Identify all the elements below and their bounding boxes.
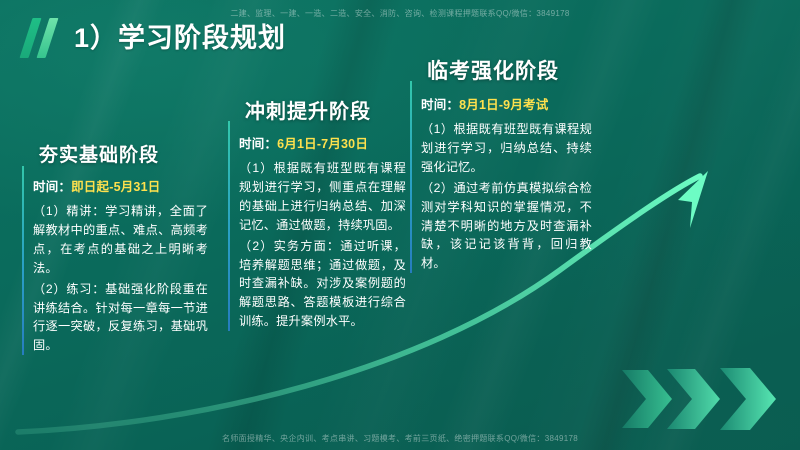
card-title: 冲刺提升阶段 (239, 95, 406, 124)
card-accent-rule (410, 81, 412, 273)
card-body: （1）根据既有班型既有课程规划进行学习，侧重点在理解的基础上进行归纳总结、加深记… (239, 159, 406, 331)
card-time-label: 时间： (421, 98, 459, 112)
double-slash-icon (22, 18, 68, 58)
stage-card-2: 冲刺提升阶段 时间：6月1日-7月30日 （1）根据既有班型既有课程规划进行学习… (228, 95, 406, 333)
card-paragraph: （1）根据既有班型既有课程规划进行学习，侧重点在理解的基础上进行归纳总结、加深记… (239, 159, 406, 235)
card-time-value: 8月1日-9月考试 (459, 98, 548, 112)
card-paragraph: （2）通过考前仿真模拟综合检测对学科知识的掌握情况，不清楚不明晰的地方及时查漏补… (421, 179, 592, 274)
card-accent-rule (228, 121, 230, 331)
card-time-value: 即日起-5月31日 (71, 180, 160, 194)
card-paragraph: （1）精讲：学习精讲，全面了解教材中的重点、难点、高频考点，在考点的基础之上明晰… (33, 202, 208, 278)
card-paragraph: （2）练习：基础强化阶段重在讲练结合。针对每一章每一节进行逐一突破，反复练习，基… (33, 280, 208, 356)
watermark-top: 二建、监理、一建、一造、二造、安全、消防、咨询、检测课程押题联系QQ/微信：38… (0, 8, 800, 19)
card-time-label: 时间： (33, 180, 71, 194)
triple-chevron-right (622, 368, 776, 430)
card-time: 时间：8月1日-9月考试 (421, 94, 592, 113)
watermark-bottom: 名师面授精华、央企内训、考点串讲、习题模考、考前三页纸、绝密押题联系QQ/微信：… (0, 433, 800, 444)
stage-card-1: 夯实基础阶段 时间：即日起-5月31日 （1）精讲：学习精讲，全面了解教材中的重… (22, 140, 208, 357)
card-body: （1）根据既有班型既有课程规划进行学习，归纳总结、持续强化记忆。 （2）通过考前… (421, 120, 592, 273)
page-header: 1）学习阶段规划 (22, 18, 286, 58)
card-body: （1）精讲：学习精讲，全面了解教材中的重点、难点、高频考点，在考点的基础之上明晰… (33, 202, 208, 355)
stage-card-3: 临考强化阶段 时间：8月1日-9月考试 （1）根据既有班型既有课程规划进行学习，… (410, 55, 592, 275)
card-title: 临考强化阶段 (421, 55, 592, 85)
card-time: 时间：6月1日-7月30日 (239, 133, 406, 152)
card-time-value: 6月1日-7月30日 (277, 137, 368, 151)
page-title: 1）学习阶段规划 (74, 25, 286, 52)
card-time: 时间：即日起-5月31日 (33, 176, 208, 195)
card-title: 夯实基础阶段 (33, 140, 208, 167)
card-time-label: 时间： (239, 137, 277, 151)
card-paragraph: （2）实务方面：通过听课，培养解题思维；通过做题，及时查漏补缺。对涉及案例题的解… (239, 237, 406, 332)
card-accent-rule (22, 166, 24, 355)
card-paragraph: （1）根据既有班型既有课程规划进行学习，归纳总结、持续强化记忆。 (421, 120, 592, 177)
